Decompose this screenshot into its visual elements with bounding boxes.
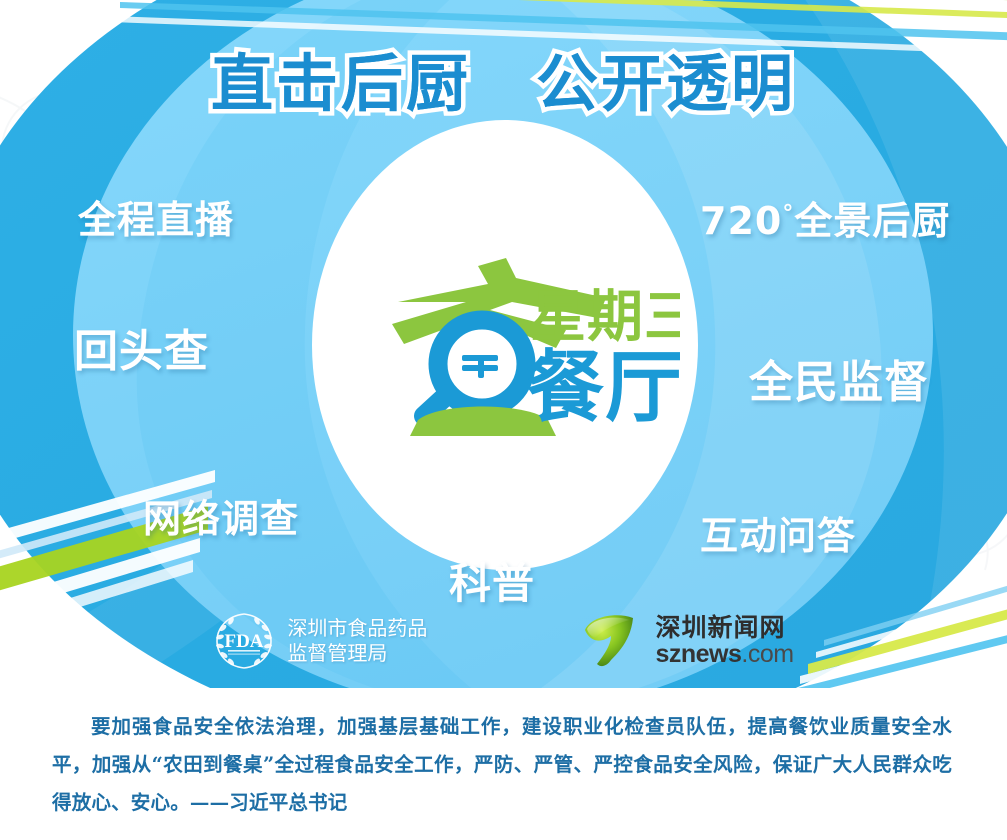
center-logo-svg: 星期三 餐厅	[330, 252, 680, 442]
feature-label-public-supervision[interactable]: 全民监督	[749, 346, 929, 410]
hero-graphic: 直击后厨 公开透明 直击后厨 公开透明 全程直播 回头查 网络调查 科普 720…	[0, 0, 1007, 688]
fda-name-line2: 监督管理局	[287, 641, 427, 666]
feature-label-720-panorama[interactable]: 720°全景后厨	[700, 190, 950, 245]
center-logo[interactable]: 星期三 餐厅	[330, 252, 680, 442]
sznews-name-en: sznews.com	[655, 641, 793, 667]
brand-sznews[interactable]: 深圳新闻网 sznews.com	[577, 610, 793, 672]
quote-text: 要加强食品安全依法治理，加强基层基础工作，建设职业化检查员队伍，提高餐饮业质量安…	[52, 708, 952, 822]
sznews-domain-tld: .com	[741, 640, 793, 668]
fda-mark-text: FDA	[225, 631, 264, 652]
fda-name: 深圳市食品药品 监督管理局	[287, 616, 427, 666]
feature-label-720-number: 720	[700, 199, 782, 243]
feature-label-live-broadcast[interactable]: 全程直播	[78, 189, 234, 244]
logo-line1: 星期三	[530, 285, 680, 350]
brand-fda[interactable]: FDA 深圳市食品药品 监督管理局	[213, 610, 427, 672]
brand-row: FDA 深圳市食品药品 监督管理局	[0, 600, 1007, 682]
fda-name-line1: 深圳市食品药品	[287, 616, 427, 641]
feature-label-online-survey[interactable]: 网络调查	[143, 488, 299, 543]
degree-symbol: °	[782, 201, 794, 226]
poster-title: 直击后厨 公开透明	[0, 33, 1007, 123]
sznews-domain: sznews	[655, 640, 741, 668]
sznews-name-cn: 深圳新闻网	[655, 615, 793, 641]
sznews-leaf-icon	[577, 610, 643, 672]
feature-label-720-tail: 全景后厨	[794, 199, 950, 243]
feature-label-interactive-qa[interactable]: 互动问答	[700, 505, 856, 560]
poster-root: 直击后厨 公开透明 直击后厨 公开透明 全程直播 回头查 网络调查 科普 720…	[0, 0, 1007, 840]
feature-label-recheck[interactable]: 回头查	[74, 315, 209, 379]
fork-icon	[462, 355, 498, 378]
quote-band: 要加强食品安全依法治理，加强基层基础工作，建设职业化检查员队伍，提高餐饮业质量安…	[0, 688, 1007, 840]
fda-seal-icon: FDA	[213, 610, 275, 672]
sznews-name: 深圳新闻网 sznews.com	[655, 615, 793, 668]
logo-line2: 餐厅	[526, 343, 680, 433]
